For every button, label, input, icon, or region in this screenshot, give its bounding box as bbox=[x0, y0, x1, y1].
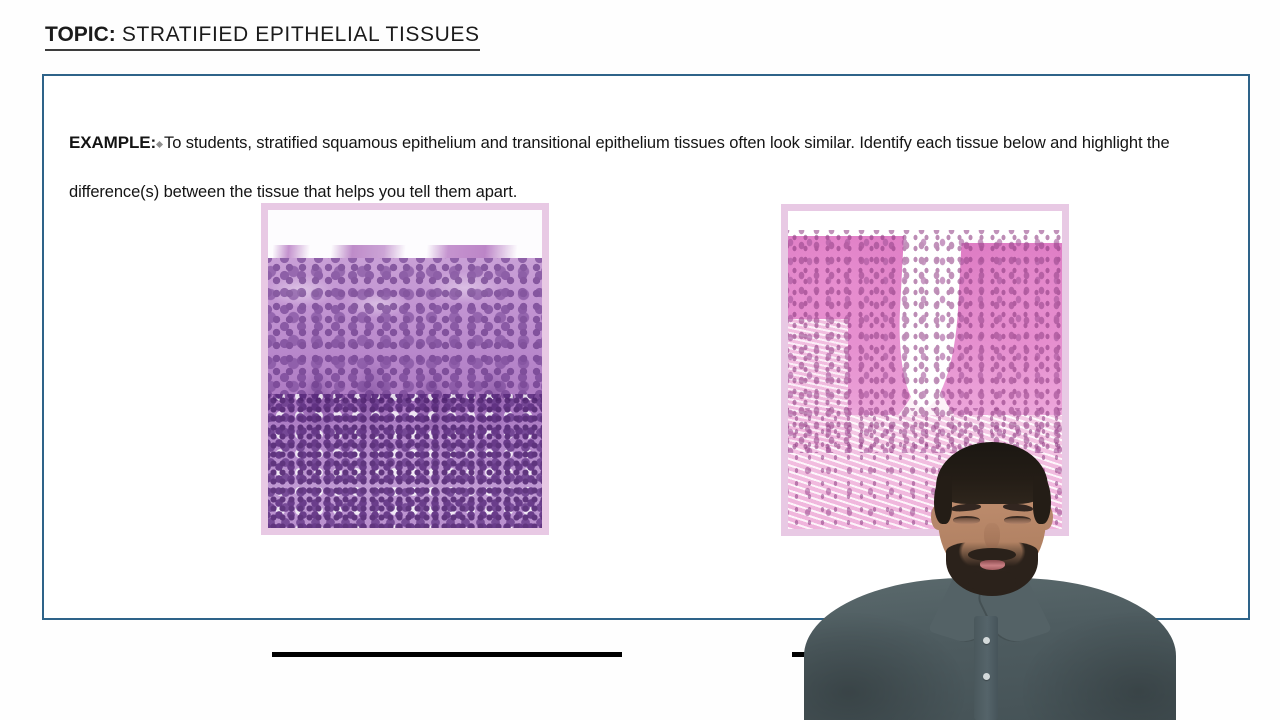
example-prompt-text: To students, stratified squamous epithel… bbox=[69, 134, 1170, 201]
topic-label: TOPIC: bbox=[45, 23, 116, 46]
slide-canvas: TOPIC: STRATIFIED EPITHELIAL TISSUES EXA… bbox=[0, 0, 1280, 720]
answer-blank-right[interactable] bbox=[792, 652, 1142, 657]
micrograph-right-image bbox=[788, 211, 1062, 529]
example-prompt: EXAMPLE:To students, stratified squamous… bbox=[69, 118, 1229, 217]
cursor-diamond-icon bbox=[156, 141, 163, 148]
content-frame: EXAMPLE:To students, stratified squamous… bbox=[42, 74, 1250, 620]
example-label: EXAMPLE: bbox=[69, 133, 156, 152]
presenter-shirt-button bbox=[983, 673, 990, 680]
micrograph-left-image bbox=[268, 210, 542, 528]
answer-blank-left[interactable] bbox=[272, 652, 622, 657]
micrograph-right bbox=[781, 204, 1069, 536]
micrograph-left-deep-nuclei bbox=[268, 394, 542, 528]
topic-title-text: STRATIFIED EPITHELIAL TISSUES bbox=[122, 23, 480, 46]
page-title: TOPIC: STRATIFIED EPITHELIAL TISSUES bbox=[45, 24, 480, 51]
micrograph-right-epithelial-nuclei bbox=[788, 230, 1062, 453]
presenter-shirt-button bbox=[983, 637, 990, 644]
presenter-shirt-placket bbox=[974, 616, 998, 720]
micrograph-left bbox=[261, 203, 549, 535]
